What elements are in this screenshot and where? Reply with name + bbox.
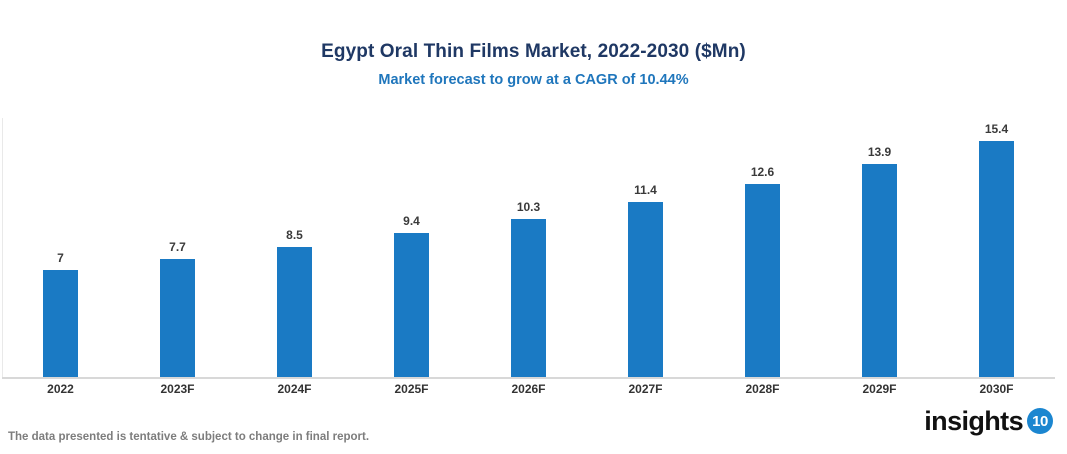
x-axis-tick-label: 2024F <box>236 382 353 396</box>
plot-area: 77.78.59.410.311.412.613.915.4 <box>0 118 1067 380</box>
bar-value-label: 12.6 <box>751 166 774 179</box>
bar-value-label: 15.4 <box>985 123 1008 136</box>
chart-card: Egypt Oral Thin Films Market, 2022-2030 … <box>0 0 1067 454</box>
x-axis-tick-label: 2026F <box>470 382 587 396</box>
bar-value-label: 9.4 <box>403 215 420 228</box>
bar-rect[interactable] <box>160 259 195 377</box>
chart-title: Egypt Oral Thin Films Market, 2022-2030 … <box>0 40 1067 64</box>
bar-value-label: 11.4 <box>634 184 657 197</box>
x-axis-tick-label: 2030F <box>938 382 1055 396</box>
x-axis-tick-label: 2029F <box>821 382 938 396</box>
bars-row: 77.78.59.410.311.412.613.915.4 <box>2 118 1055 377</box>
bar-value-label: 7.7 <box>169 241 186 254</box>
bar-value-label: 8.5 <box>286 229 303 242</box>
x-axis-tick-label: 2022 <box>2 382 119 396</box>
bar-group[interactable]: 12.6 <box>704 118 821 377</box>
disclaimer-note: The data presented is tentative & subjec… <box>8 430 369 444</box>
bar-group[interactable]: 8.5 <box>236 118 353 377</box>
x-axis-line <box>2 377 1055 379</box>
x-axis-tick-label: 2028F <box>704 382 821 396</box>
bar-group[interactable]: 15.4 <box>938 118 1055 377</box>
bar-group[interactable]: 13.9 <box>821 118 938 377</box>
bar-rect[interactable] <box>277 247 312 377</box>
bar-rect[interactable] <box>979 141 1014 377</box>
insights10-logo: insights 10 <box>924 405 1053 437</box>
x-axis-labels: 20222023F2024F2025F2026F2027F2028F2029F2… <box>2 382 1055 396</box>
bar-rect[interactable] <box>745 184 780 377</box>
title-block: Egypt Oral Thin Films Market, 2022-2030 … <box>0 40 1067 89</box>
x-axis-tick-label: 2027F <box>587 382 704 396</box>
bar-group[interactable]: 7.7 <box>119 118 236 377</box>
bar-rect[interactable] <box>43 270 78 377</box>
x-axis-tick-label: 2025F <box>353 382 470 396</box>
bar-group[interactable]: 10.3 <box>470 118 587 377</box>
chart-subtitle: Market forecast to grow at a CAGR of 10.… <box>0 71 1067 89</box>
bar-group[interactable]: 11.4 <box>587 118 704 377</box>
logo-wordmark: insights <box>924 407 1023 435</box>
x-axis-tick-label: 2023F <box>119 382 236 396</box>
bar-rect[interactable] <box>394 233 429 377</box>
bar-value-label: 7 <box>57 252 64 265</box>
bar-rect[interactable] <box>862 164 897 377</box>
bar-value-label: 13.9 <box>868 146 891 159</box>
logo-badge-icon: 10 <box>1027 408 1053 434</box>
bar-rect[interactable] <box>511 219 546 377</box>
bar-rect[interactable] <box>628 202 663 377</box>
bar-group[interactable]: 9.4 <box>353 118 470 377</box>
bar-value-label: 10.3 <box>517 201 540 214</box>
bar-group[interactable]: 7 <box>2 118 119 377</box>
